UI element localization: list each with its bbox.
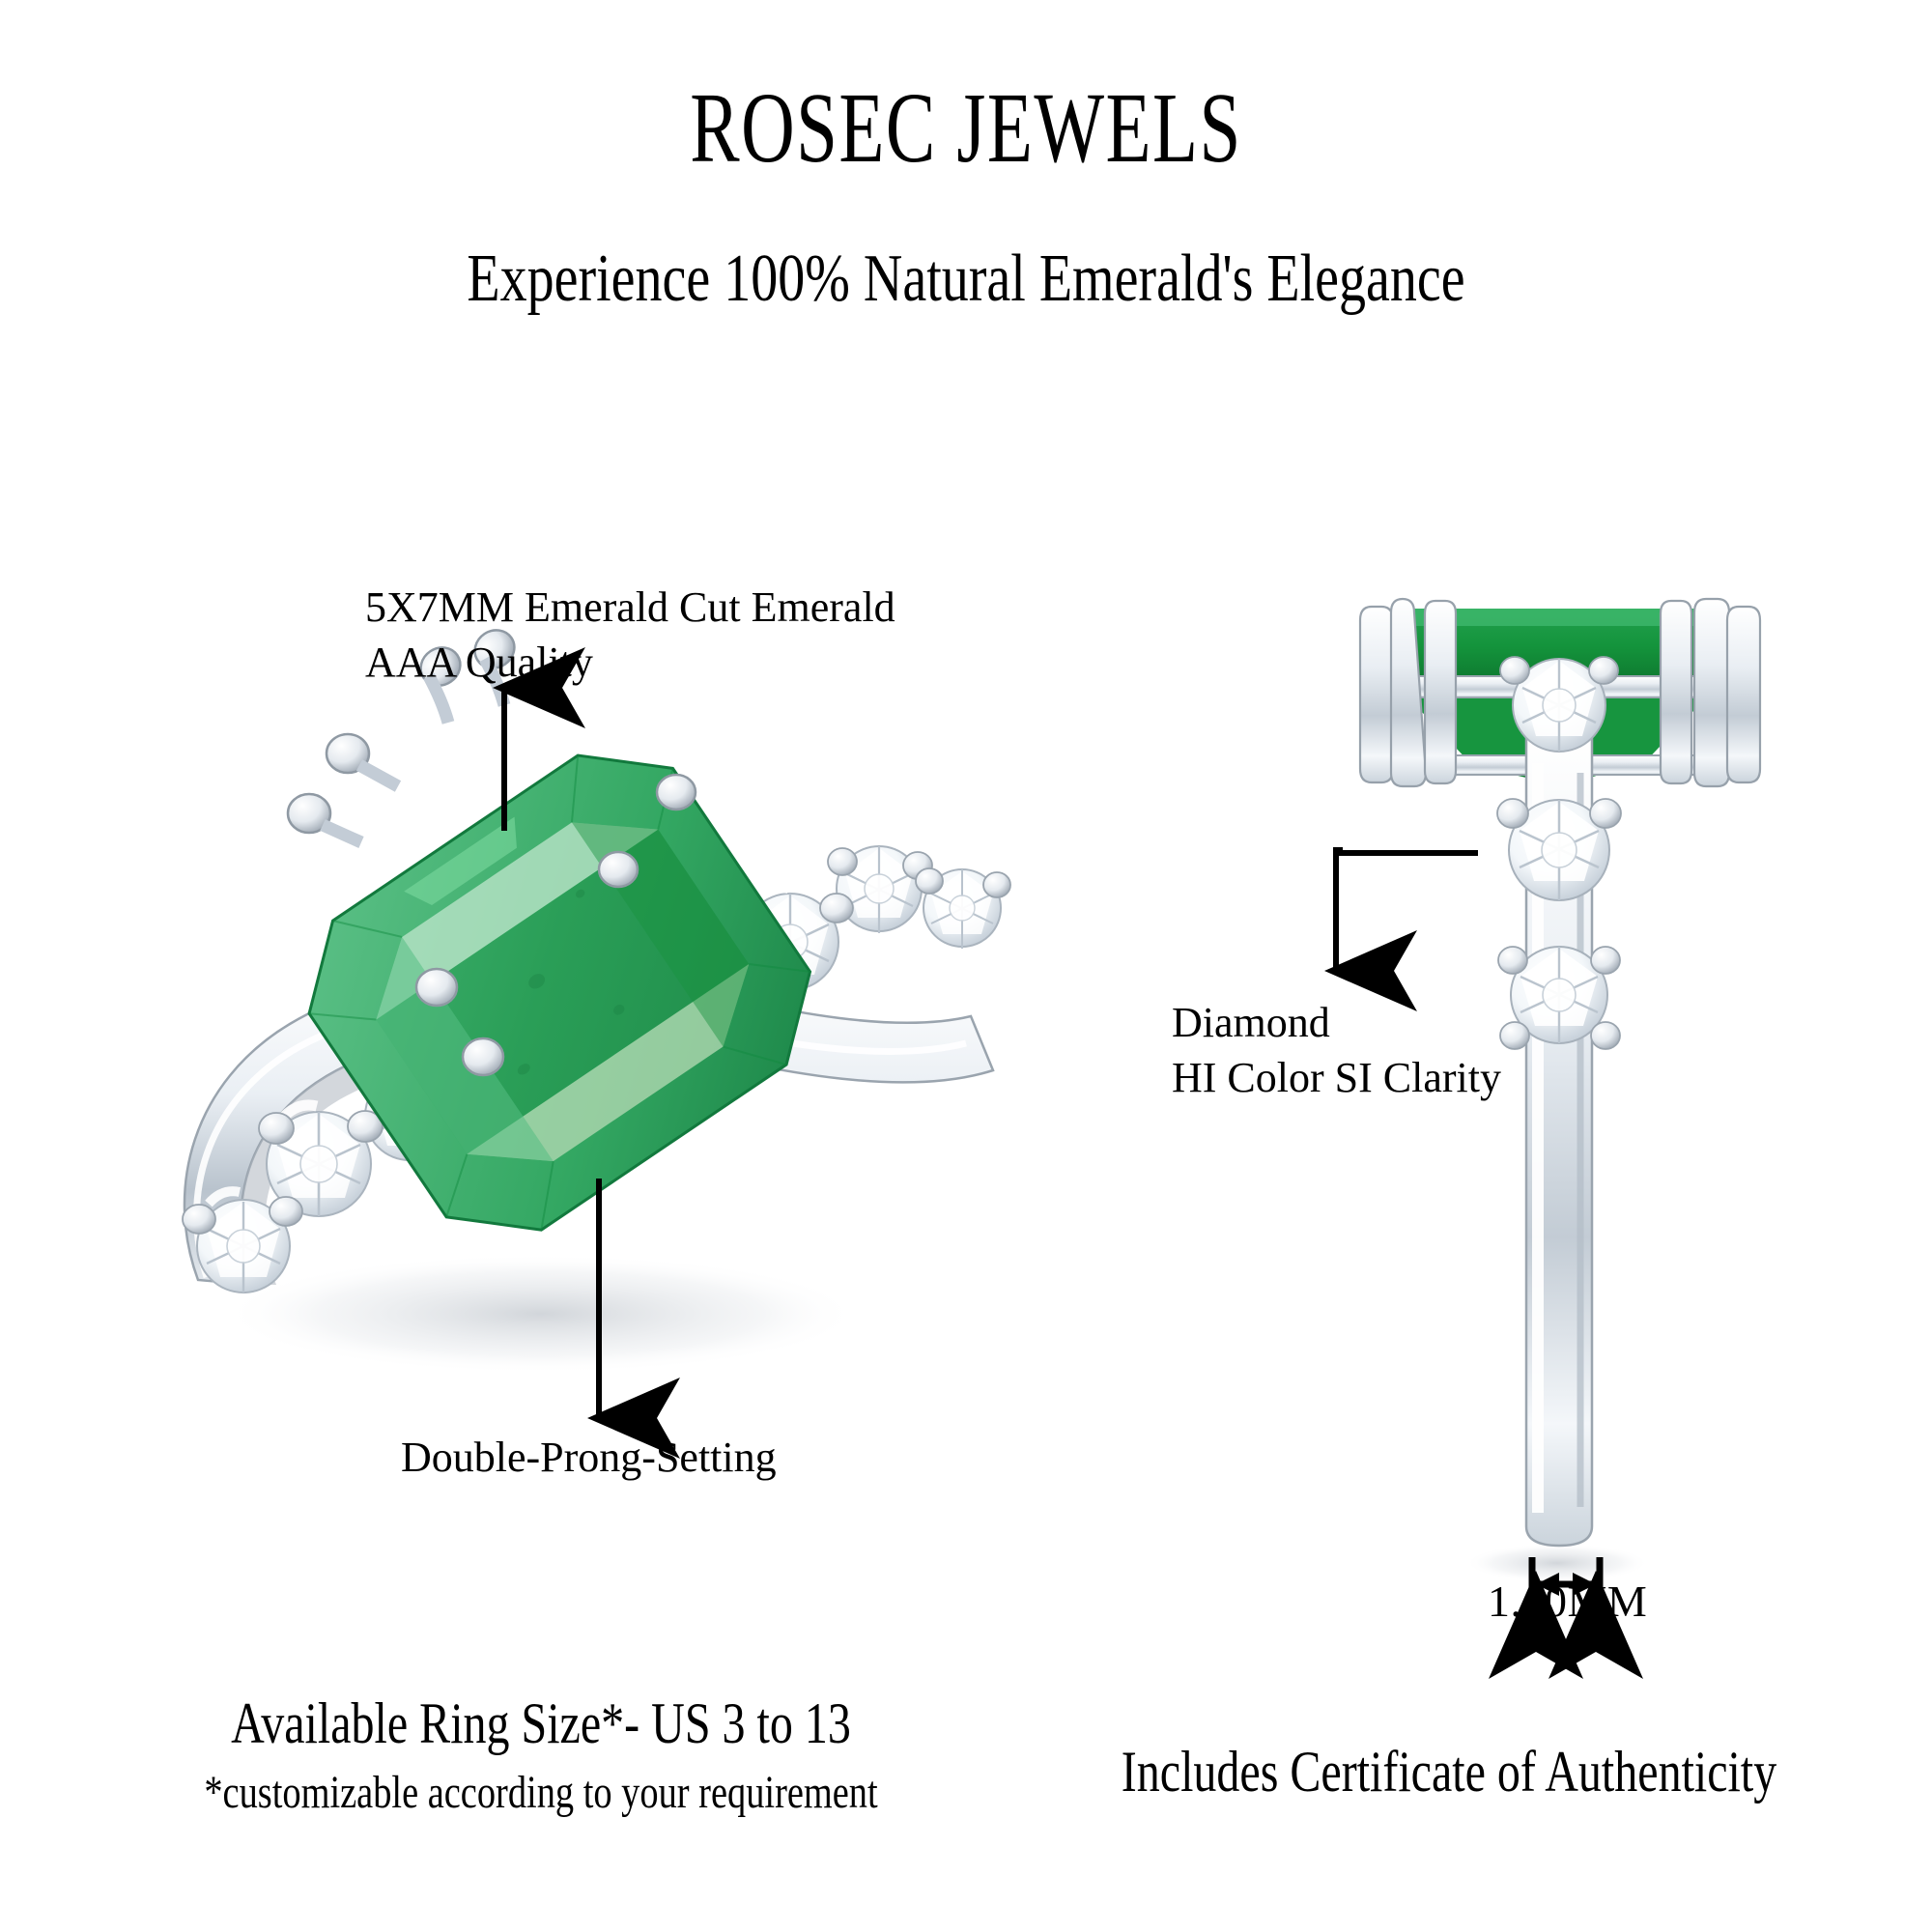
annotation-band-width-label: 1.40MM	[1488, 1573, 1647, 1631]
diamond	[837, 846, 922, 933]
infographic-canvas: ROSEC JEWELS Experience 100% Natural Eme…	[0, 0, 1932, 1932]
ring-band	[185, 967, 993, 1285]
side-diamonds-left	[183, 1068, 461, 1293]
footer-certificate: Includes Certificate of Authenticity	[1063, 1739, 1835, 1805]
brand-title: ROSEC JEWELS	[251, 75, 1681, 181]
leader-diamond	[1336, 850, 1343, 971]
diamond	[197, 1191, 290, 1293]
side-diamonds-right	[729, 846, 1010, 990]
center-emerald	[273, 716, 845, 1270]
profile-shank	[1526, 734, 1592, 1546]
ring-front-view	[183, 623, 1010, 1374]
diamond	[1513, 659, 1605, 752]
diamond	[365, 1071, 454, 1160]
diamond	[1509, 800, 1609, 900]
profile-prongs-left	[1360, 599, 1456, 786]
profile-prongs-right	[1661, 599, 1760, 786]
profile-emerald	[1403, 609, 1712, 779]
diamond	[923, 869, 1001, 949]
double-prong-setting	[288, 623, 696, 1075]
tagline: Experience 100% Natural Emerald's Elegan…	[193, 243, 1739, 315]
diamond	[1511, 947, 1607, 1043]
footer-ring-size: Available Ring Size*- US 3 to 13	[155, 1690, 927, 1757]
annotation-emerald-label: 5X7MM Emerald Cut Emerald AAA Quality	[365, 580, 895, 690]
profile-diamonds	[1497, 657, 1621, 1049]
annotation-diamond-label: Diamond HI Color SI Clarity	[1172, 995, 1501, 1105]
diamond	[267, 1105, 371, 1216]
profile-head	[1399, 676, 1718, 775]
diamond	[742, 888, 838, 990]
footer-customizable-note: *customizable according to your requirem…	[155, 1766, 927, 1819]
annotation-setting-label: Double-Prong-Setting	[401, 1430, 777, 1485]
